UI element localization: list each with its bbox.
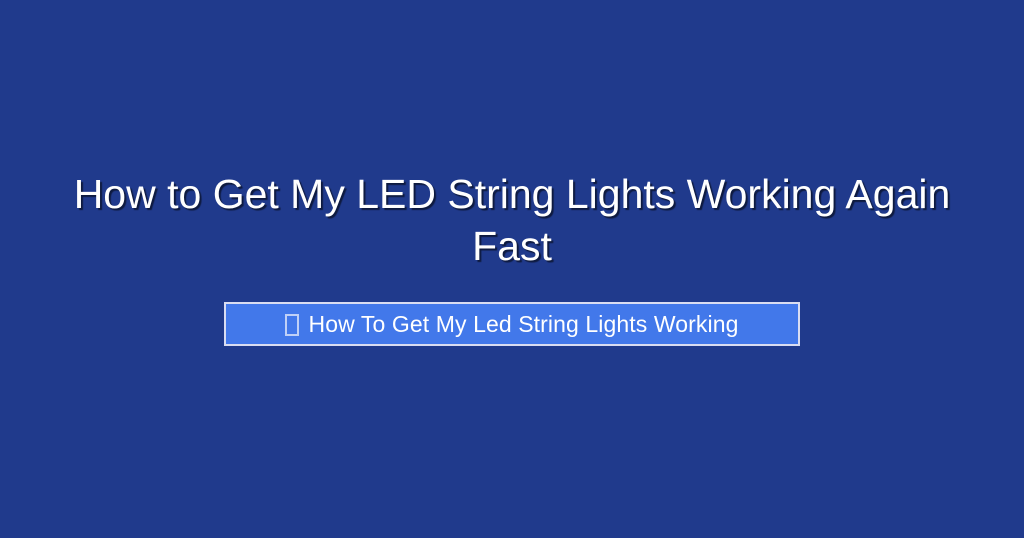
cta-container: How To Get My Led String Lights Working <box>0 302 1024 346</box>
page-root: How to Get My LED String Lights Working … <box>0 0 1024 538</box>
cta-button[interactable]: How To Get My Led String Lights Working <box>224 302 800 346</box>
page-title: How to Get My LED String Lights Working … <box>67 168 957 272</box>
hero-section: How to Get My LED String Lights Working … <box>0 0 1024 538</box>
cta-button-label: How To Get My Led String Lights Working <box>308 304 738 344</box>
missing-glyph-box-icon <box>285 314 299 336</box>
